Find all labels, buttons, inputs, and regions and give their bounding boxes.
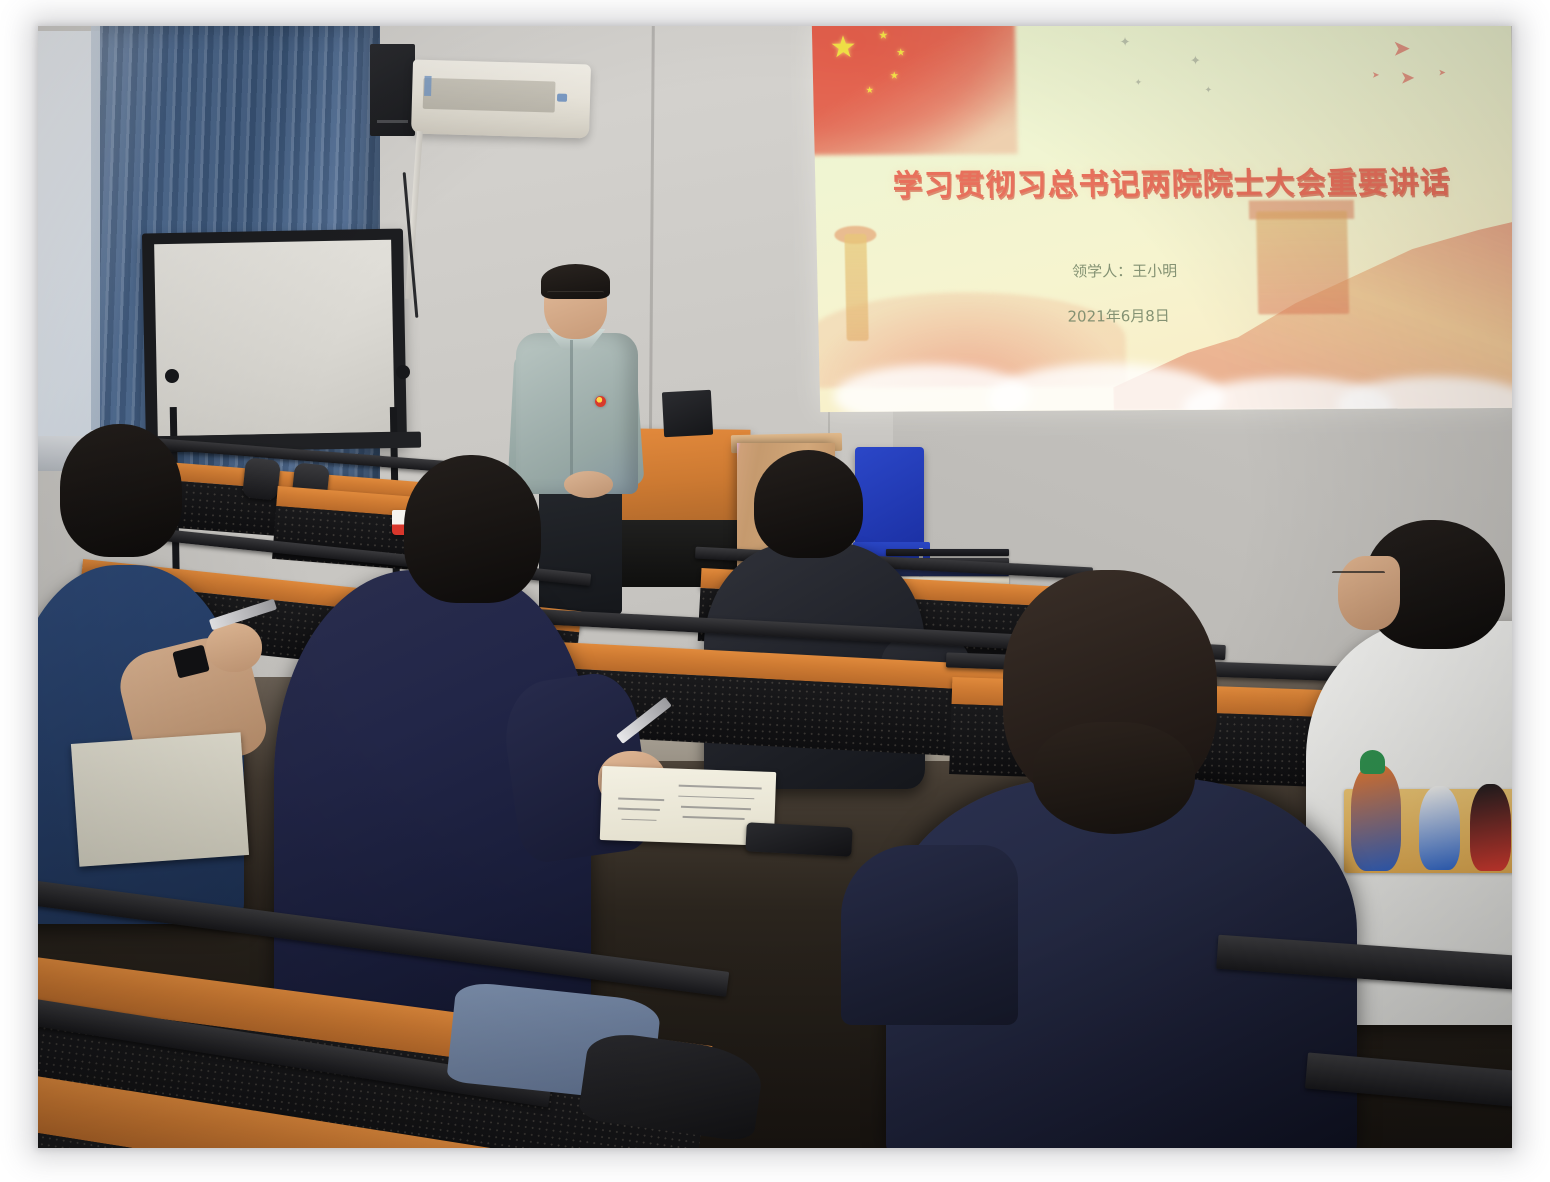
speaker-grille: [377, 120, 408, 123]
dove-icon-3: ✦: [1135, 78, 1143, 87]
dove-icon-4: ✦: [1205, 86, 1213, 95]
speaker-icon: [370, 44, 416, 136]
notebook-line: [619, 797, 664, 800]
glasses-icon: [547, 291, 604, 303]
ac-vent: [423, 77, 556, 112]
flag-star-4: ★: [866, 86, 874, 95]
notebook-line: [621, 818, 656, 821]
whiteboard: [142, 229, 407, 453]
ponytail-icon: [1033, 722, 1195, 834]
book: [886, 549, 1010, 557]
seat-arm-1: [242, 457, 281, 501]
notebook-line: [618, 808, 660, 811]
student-left-head: [60, 424, 182, 556]
notebook-line: [681, 806, 751, 810]
presenter-shirt-placket: [570, 340, 573, 481]
blue-chair: [855, 447, 924, 548]
presenter-legs: [539, 482, 622, 614]
whiteboard-surface: [154, 240, 395, 437]
goofy-hat-icon: [1360, 750, 1385, 774]
air-conditioner-icon: [411, 59, 591, 138]
photo-frame: ★ ★ ★ ★ ★ ✦ ✦ ✦ ✦ ➤ ➤: [38, 26, 1512, 1148]
whiteboard-pivot-right: [396, 365, 410, 379]
dove-icon-5: ➤: [1392, 37, 1411, 59]
flag-star-3: ★: [890, 72, 899, 82]
slide-title: 学习贯彻习总书记两院院士大会重要讲话: [847, 157, 1498, 205]
photo-page: ★ ★ ★ ★ ★ ✦ ✦ ✦ ✦ ➤ ➤: [0, 0, 1550, 1182]
student-navy-head: [404, 455, 541, 603]
notebook-line: [678, 795, 755, 799]
dove-icon-1: ✦: [1120, 35, 1131, 48]
notebook-line: [678, 785, 761, 789]
whiteboard-pivot-left: [165, 369, 179, 383]
student-dark-head: [754, 450, 863, 558]
huabiao-column-icon: [845, 234, 870, 341]
dove-icon-2: ✦: [1190, 54, 1201, 67]
flag-star-large: ★: [830, 32, 858, 62]
mickey-toon-icon: [1470, 784, 1511, 872]
dove-icon-8: ➤: [1438, 68, 1446, 77]
goofy-toon-icon: [1351, 765, 1401, 870]
student-ponytail-shoulder: [841, 845, 1018, 1025]
student-disney-face: [1338, 556, 1400, 630]
flag-star-1: ★: [879, 30, 889, 41]
smartphone: [745, 822, 853, 857]
classroom-photograph: ★ ★ ★ ★ ★ ✦ ✦ ✦ ✦ ➤ ➤: [38, 26, 1512, 1148]
glasses-icon: [1332, 571, 1385, 584]
slide-date-line: 2021年6月8日: [937, 304, 1301, 327]
dove-icon-7: ➤: [1372, 71, 1380, 80]
paper-sheet: [71, 733, 249, 868]
student-left-hand: [206, 623, 262, 672]
donald-toon-icon: [1419, 786, 1460, 870]
flag-star-2: ★: [896, 48, 905, 58]
dove-icon-6: ➤: [1400, 69, 1415, 87]
notebook-line: [682, 816, 745, 820]
cartoon-print: [1344, 789, 1512, 873]
ac-logo: [558, 93, 568, 101]
presenter-torso: [516, 333, 638, 493]
projection-screen: ★ ★ ★ ★ ★ ✦ ✦ ✦ ✦ ➤ ➤: [812, 26, 1512, 412]
ac-tab: [424, 76, 432, 95]
laptop: [662, 389, 713, 436]
slide-presenter-line: 领学人：王小明: [943, 259, 1307, 282]
